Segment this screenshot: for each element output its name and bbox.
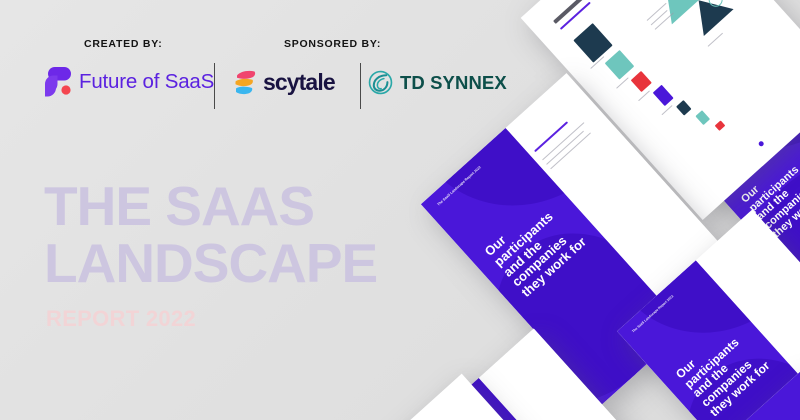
td-synnex-logo[interactable]: TD SYNNEX xyxy=(368,70,507,95)
credits-row: CREATED BY: SPONSORED BY: Future of SaaS xyxy=(30,30,460,120)
sponsored-by-label: SPONSORED BY: xyxy=(284,38,381,50)
chart-bar xyxy=(573,23,612,63)
chart-bar xyxy=(715,120,726,131)
headline-line-1: THE SAAS xyxy=(44,178,464,235)
scytale-mark-icon xyxy=(233,68,259,96)
chart-bar xyxy=(605,50,635,80)
td-synnex-wordmark: TD SYNNEX xyxy=(400,72,507,94)
body-text-line xyxy=(638,90,650,101)
page-heading-block xyxy=(553,0,609,24)
poster-subtitle: REPORT 2022 xyxy=(46,306,196,332)
chart-bar xyxy=(695,110,710,125)
poster-left-panel: CREATED BY: SPONSORED BY: Future of SaaS xyxy=(0,0,470,420)
logo-divider xyxy=(360,63,361,109)
headline-line-2: LANDSCAPE xyxy=(44,235,464,292)
future-of-saas-mark-icon xyxy=(44,66,72,98)
triangle-navy xyxy=(684,0,734,36)
body-text-line xyxy=(708,33,724,47)
created-by-label: CREATED BY: xyxy=(84,38,162,50)
td-synnex-mark-icon xyxy=(368,70,393,95)
page-corner-dot xyxy=(758,140,765,147)
poster-canvas: Our participants and the companies they … xyxy=(0,0,800,420)
future-of-saas-wordmark: Future of SaaS xyxy=(79,70,214,94)
scytale-wordmark: scytale xyxy=(263,69,335,96)
future-of-saas-logo[interactable]: Future of SaaS xyxy=(44,66,214,98)
chart-bar xyxy=(631,71,652,92)
body-text-line xyxy=(661,105,672,115)
chart-bar xyxy=(676,100,691,116)
logo-divider xyxy=(214,63,215,109)
scytale-logo[interactable]: scytale xyxy=(233,68,335,96)
poster-headline: THE SAAS LANDSCAPE xyxy=(44,178,464,292)
chart-bar xyxy=(653,85,674,106)
